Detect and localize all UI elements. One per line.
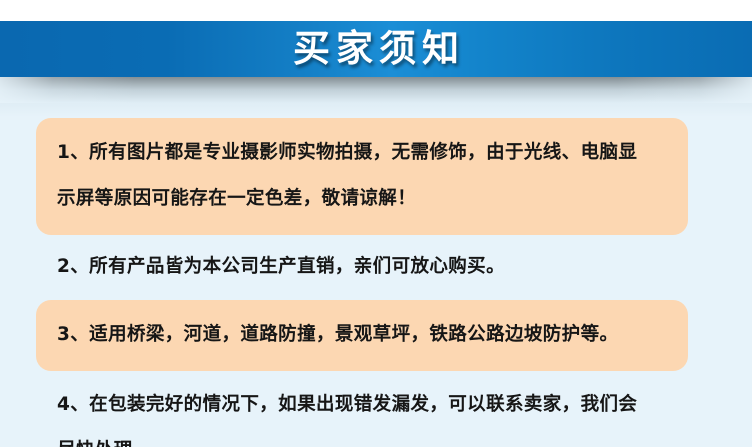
notice-item-1-text: 1、所有图片都是专业摄影师实物拍摄，无需修饰，由于光线、电脑显 示屏等原因可能存… [36, 118, 688, 235]
notice-item-3-text: 3、适用桥梁，河道，道路防撞，景观草坪，铁路公路边坡防护等。 [36, 300, 688, 371]
notice-list: 1、所有图片都是专业摄影师实物拍摄，无需修饰，由于光线、电脑显 示屏等原因可能存… [0, 118, 752, 447]
spacer-1 [0, 235, 752, 244]
notice-item-3: 3、适用桥梁，河道，道路防撞，景观草坪，铁路公路边坡防护等。 [36, 300, 688, 371]
top-white-strip [0, 0, 752, 21]
banner-header: 买家须知 [0, 21, 752, 77]
notice-item-1: 1、所有图片都是专业摄影师实物拍摄，无需修饰，由于光线、电脑显 示屏等原因可能存… [36, 118, 688, 235]
notice-item-2: 2、所有产品皆为本公司生产直销，亲们可放心购买。 [57, 244, 688, 290]
spacer-3 [0, 371, 752, 382]
banner-shadow-edge-fade [0, 77, 752, 103]
page-title: 买家须知 [0, 21, 752, 77]
notice-item-2-text: 2、所有产品皆为本公司生产直销，亲们可放心购买。 [57, 244, 688, 290]
buyer-notice-page: 买家须知 1、所有图片都是专业摄影师实物拍摄，无需修饰，由于光线、电脑显 示屏等… [0, 0, 752, 447]
notice-item-4: 4、在包装完好的情况下，如果出现错发漏发，可以联系卖家，我们会 尽快处理。 [57, 382, 688, 447]
notice-item-4-text-line2: 尽快处理。 [57, 428, 688, 447]
spacer-2 [0, 290, 752, 300]
notice-item-4-text-line1: 4、在包装完好的情况下，如果出现错发漏发，可以联系卖家，我们会 [57, 382, 688, 428]
